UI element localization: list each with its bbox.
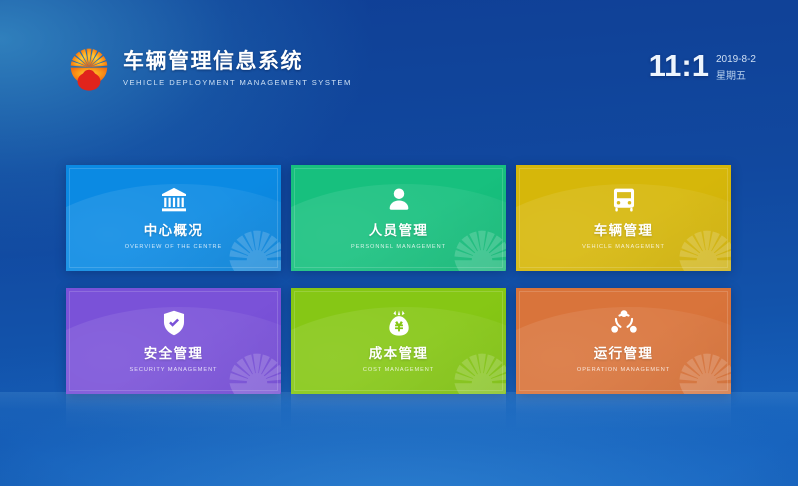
tile-label: 人员管理 (369, 223, 429, 239)
tile-cost-management[interactable]: 成本管理 COST MANAGEMENT (291, 288, 506, 394)
tile-reflection-2 (291, 394, 506, 430)
datetime-block: 11:1 2019-8-2 星期五 (649, 50, 756, 84)
brand-titles: 车辆管理信息系统 VEHICLE DEPLOYMENT MANAGEMENT S… (123, 50, 352, 88)
tile-security-management[interactable]: 安全管理 SECURITY MANAGEMENT (66, 288, 281, 394)
tile-personnel-management[interactable]: 人员管理 PERSONNEL MANAGEMENT (291, 165, 506, 271)
shield-check-icon (160, 309, 188, 337)
brand-block: 车辆管理信息系统 VEHICLE DEPLOYMENT MANAGEMENT S… (66, 45, 352, 93)
tile-overview-of-the-centre[interactable]: 中心概况 OVERVIEW OF THE CENTRE (66, 165, 281, 271)
page-title-en: VEHICLE DEPLOYMENT MANAGEMENT SYSTEM (123, 77, 352, 88)
money-bag-yuan-icon (385, 309, 413, 337)
tile-body: 成本管理 COST MANAGEMENT (291, 288, 506, 394)
tile-body: 安全管理 SECURITY MANAGEMENT (66, 288, 281, 394)
tile-label: 运行管理 (594, 346, 654, 362)
tile-body: 中心概况 OVERVIEW OF THE CENTRE (66, 165, 281, 271)
tile-sublabel: SECURITY MANAGEMENT (130, 366, 218, 374)
tile-sublabel: OPERATION MANAGEMENT (577, 366, 670, 374)
tile-body: 运行管理 OPERATION MANAGEMENT (516, 288, 731, 394)
page-title-cn: 车辆管理信息系统 (123, 50, 352, 74)
tile-reflection-1 (66, 394, 281, 430)
tile-operation-management[interactable]: 运行管理 OPERATION MANAGEMENT (516, 288, 731, 394)
tile-label: 安全管理 (144, 346, 204, 362)
person-icon (385, 186, 413, 214)
app-root: 车辆管理信息系统 VEHICLE DEPLOYMENT MANAGEMENT S… (0, 0, 798, 486)
current-date: 2019-8-2 (716, 53, 756, 67)
tile-sublabel: VEHICLE MANAGEMENT (582, 243, 665, 251)
floor-reflection-glow (0, 392, 798, 486)
tile-reflection-3 (516, 394, 731, 430)
tile-label: 中心概况 (144, 223, 204, 239)
current-weekday: 星期五 (716, 70, 756, 84)
tile-sublabel: PERSONNEL MANAGEMENT (351, 243, 446, 251)
cnpc-sunburst-logo-icon (66, 46, 112, 92)
tile-label: 成本管理 (369, 346, 429, 362)
tile-sublabel: COST MANAGEMENT (363, 366, 434, 374)
date-block: 2019-8-2 星期五 (716, 50, 756, 84)
share-nodes-icon (610, 309, 638, 337)
module-tile-grid: 中心概况 OVERVIEW OF THE CENTRE (66, 165, 731, 394)
bank-columns-icon (160, 186, 188, 214)
tile-vehicle-management[interactable]: 车辆管理 VEHICLE MANAGEMENT (516, 165, 731, 271)
tile-body: 人员管理 PERSONNEL MANAGEMENT (291, 165, 506, 271)
clock-time: 11:1 (649, 50, 709, 82)
tile-sublabel: OVERVIEW OF THE CENTRE (125, 243, 222, 251)
app-header: 车辆管理信息系统 VEHICLE DEPLOYMENT MANAGEMENT S… (0, 0, 798, 140)
bus-icon (610, 186, 638, 214)
tile-label: 车辆管理 (594, 223, 654, 239)
tile-body: 车辆管理 VEHICLE MANAGEMENT (516, 165, 731, 271)
